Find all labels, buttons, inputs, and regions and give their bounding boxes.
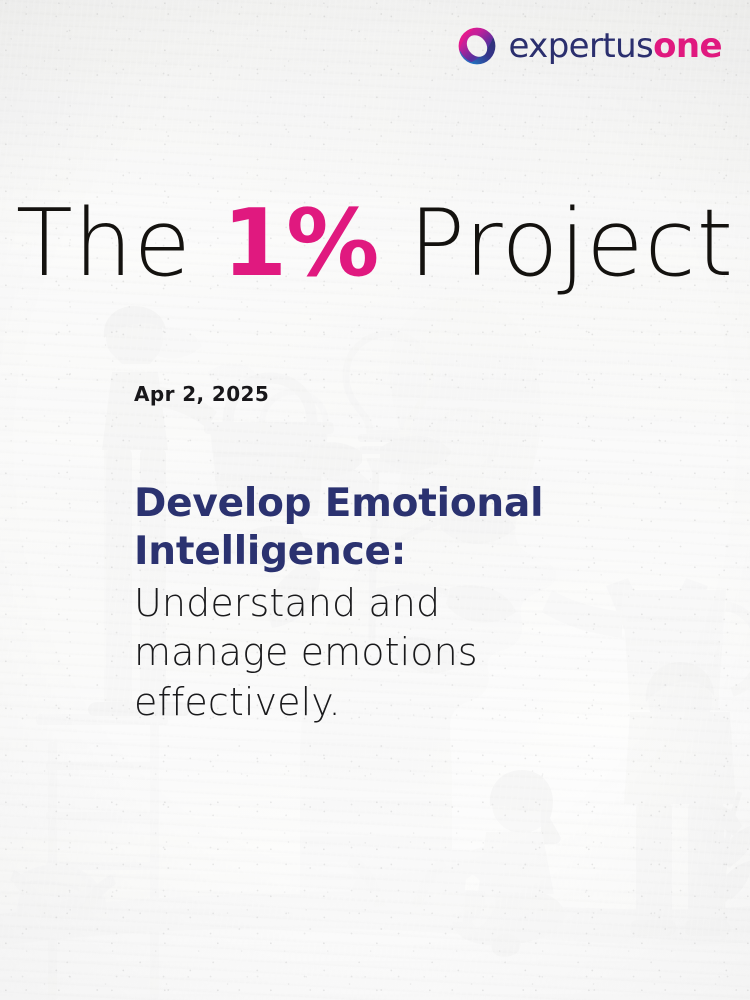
title-part-1: The [16,189,223,297]
expertusone-ring-logo-icon [457,26,497,66]
copy-block: Develop Emotional Intelligence: Understa… [134,480,604,727]
title-part-2: Project [378,189,734,297]
logo-wordmark: expertusone [508,29,722,63]
page-title: The 1% Project [0,195,750,293]
logo-word-one: one [653,26,722,66]
copy-headline: Develop Emotional Intelligence: [134,480,604,576]
poster-canvas: expertusone The 1% Project Apr 2, 2025 D… [0,0,750,1000]
title-highlight-percent: 1% [222,189,378,297]
expertusone-logo[interactable]: expertusone [457,26,722,66]
publish-date: Apr 2, 2025 [134,382,269,406]
logo-word-expertus: expertus [508,26,653,66]
copy-subtext: Understand and manage emotions effective… [134,579,604,727]
